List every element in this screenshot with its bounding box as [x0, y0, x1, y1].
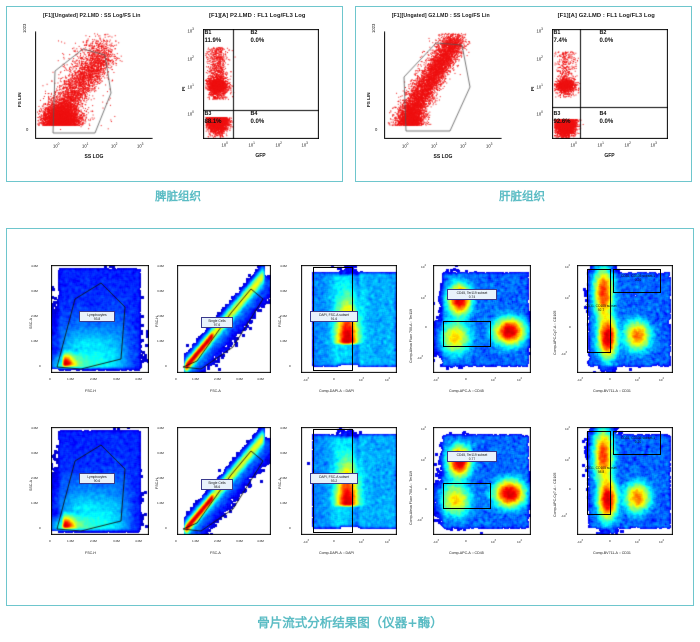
x-tick: 103 — [359, 539, 364, 544]
quadrant-label-b4: B4 — [251, 111, 258, 117]
x-axis-label: Comp-DAPI-A :: DAPI — [319, 389, 354, 393]
top-captions-row: 脾脏组织 肝脏组织 — [0, 182, 700, 204]
y-tick-0: 100 — [188, 110, 194, 116]
plot-title: [F1][A] P2.LMD : FL1 Log/FL3 Log — [175, 13, 341, 19]
x-tick-1: 101 — [431, 142, 437, 148]
gate-label-single-cells: Single Cells 98.6 — [201, 479, 233, 490]
plot-title: [F1][Ungated] P2.LMD : SS Log/FS Lin — [9, 13, 175, 19]
y-tick: 3.0M — [31, 289, 38, 293]
y-tick: 1.0M — [280, 501, 287, 505]
x-axis-label: FSC-A — [210, 389, 221, 393]
x-tick: 104 — [659, 539, 664, 544]
x-tick: 103 — [491, 377, 496, 382]
gate-label-dapi-subset: DAPI, FSC-A subset 93.2 — [310, 473, 358, 484]
x-tick-0: 100 — [53, 142, 59, 148]
x-tick: 2.0M — [90, 377, 97, 381]
x-tick: 0 — [333, 377, 335, 381]
panel-bone-chip-analysis: Lymphocytes 93.8 4.0M 3.0M 2.0M 1.0M 0 0… — [6, 228, 694, 606]
x-tick: 103 — [359, 377, 364, 382]
y-tick: 0 — [165, 526, 167, 530]
y-axis-label: FSC-H — [155, 316, 159, 327]
y-tick: 104 — [565, 264, 570, 269]
plot-r2-cd45-ter119: CD45, Ter119 subset 0.77 104 103 0 -103 … — [403, 421, 543, 581]
x-tick: 104 — [385, 377, 390, 382]
caption-bone-chip: 骨片流式分析结果图（仪器+酶） — [0, 612, 700, 631]
y-axis-label: PI — [530, 87, 535, 91]
x-axis-label: GFP — [552, 153, 668, 159]
y-axis-label: Comp-APC-Cy7-A :: CD105 — [553, 311, 557, 355]
y-tick: 3.0M — [280, 451, 287, 455]
y-tick: 0 — [165, 364, 167, 368]
x-tick: 1.0M — [67, 377, 74, 381]
x-tick: 0 — [49, 377, 51, 381]
y-tick-bottom: 0 — [26, 127, 28, 132]
quadrant-pct-b4: 0.0% — [600, 119, 614, 125]
x-tick: 3.0M — [113, 377, 120, 381]
x-tick: 1.0M — [67, 539, 74, 543]
x-tick: -103 — [303, 377, 309, 382]
y-tick: 3.0M — [157, 451, 164, 455]
x-tick-3: 103 — [302, 141, 308, 147]
scatter-canvas — [35, 31, 153, 139]
x-axis-label: Comp-DAPI-A :: DAPI — [319, 551, 354, 555]
x-tick: 3.0M — [113, 539, 120, 543]
y-tick: 104 — [421, 426, 426, 431]
quadrant-label-b2: B2 — [600, 30, 607, 36]
x-tick: 1.0M — [192, 539, 199, 543]
y-tick: -103 — [561, 351, 567, 356]
quadrant-pct-b1: 11.9% — [205, 38, 222, 44]
plot-title: [F1][Ungated] G2.LMD : SS Log/FS Lin — [358, 13, 524, 19]
y-tick-2: 102 — [537, 55, 543, 61]
bottom-row-2: Lymphocytes 90.6 4.0M 3.0M 2.0M 1.0M 0 0… — [7, 421, 693, 581]
y-tick: 1.0M — [157, 501, 164, 505]
y-tick: 0 — [289, 526, 291, 530]
y-tick-bottom: 0 — [375, 127, 377, 132]
x-tick: 103 — [491, 539, 496, 544]
gate-label-cd31-cd105-1: CD31, CD105 subset-1 0.20 — [615, 435, 661, 444]
plot-r1-dapi-fsca: DAPI, FSC-A subset 91.6 4.0M 3.0M 2.0M 1… — [277, 259, 403, 419]
plot-r1-ssc-fsc: Lymphocytes 93.8 4.0M 3.0M 2.0M 1.0M 0 0… — [27, 259, 155, 419]
density-canvas — [433, 427, 531, 535]
y-tick: 0 — [425, 325, 427, 329]
x-axis-label: Comp-BV711-A :: CD31 — [593, 389, 631, 393]
y-tick: 0 — [289, 364, 291, 368]
caption-spleen: 脾脏组织 — [6, 188, 350, 204]
y-tick: 0 — [425, 487, 427, 491]
y-tick: 3.0M — [31, 451, 38, 455]
quadrant-pct-b4: 0.0% — [251, 119, 265, 125]
y-tick: 4.0M — [280, 264, 287, 268]
x-tick: 0 — [175, 539, 177, 543]
gate-label-cd31-cd105-1: CD31, CD105 subset-1 0.20 — [615, 273, 661, 282]
y-axis-label: SSC-A — [29, 480, 33, 491]
x-tick: 4.0M — [257, 539, 264, 543]
gate-label-cd31-cd105: CD31, CD105 subset 98.8 — [577, 465, 625, 474]
y-tick-3: 103 — [188, 27, 194, 33]
y-tick: 0 — [39, 526, 41, 530]
x-tick: 0 — [465, 539, 467, 543]
x-tick-2: 102 — [111, 142, 117, 148]
y-tick-top: 1023 — [22, 24, 27, 33]
y-tick-top: 1023 — [371, 24, 376, 33]
x-tick-1: 101 — [598, 141, 604, 147]
x-tick-1: 101 — [249, 141, 255, 147]
x-tick: -103 — [577, 539, 583, 544]
quadrant-label-b4: B4 — [600, 111, 607, 117]
y-axis-label: Comp-Alexa Fluor 700-A :: Ter119 — [409, 309, 413, 363]
x-axis-label: FSC-A — [210, 551, 221, 555]
x-tick: 4.0M — [135, 377, 142, 381]
plot-spleen-fl1-fl3: [F1][A] P2.LMD : FL1 Log/FL3 Log PI 103 … — [175, 11, 341, 177]
y-tick: -103 — [417, 355, 423, 360]
y-tick: 103 — [421, 295, 426, 300]
x-axis-label: Comp-BV711-A :: CD31 — [593, 551, 631, 555]
plot-r1-fsch-fsca: Single Cells 97.6 4.0M 3.0M 2.0M 1.0M 0 … — [155, 259, 277, 419]
x-tick-3: 103 — [486, 142, 492, 148]
gate-label-lymphocytes: Lymphocytes 90.6 — [79, 473, 115, 484]
y-axis-label: FS LIN — [17, 92, 22, 107]
x-tick-0: 100 — [222, 141, 228, 147]
y-tick: 104 — [565, 426, 570, 431]
x-axis-label: FSC-H — [85, 551, 96, 555]
y-tick-1: 101 — [537, 83, 543, 89]
y-tick: 3.0M — [157, 289, 164, 293]
x-axis-label: GFP — [203, 153, 319, 159]
y-tick: 4.0M — [31, 264, 38, 268]
x-axis-label: Comp-APC-A :: CD45 — [449, 389, 484, 393]
y-tick: 4.0M — [31, 426, 38, 430]
y-tick-2: 102 — [188, 55, 194, 61]
gate-label-dapi-subset: DAPI, FSC-A subset 91.6 — [310, 311, 358, 322]
y-tick: 0 — [39, 364, 41, 368]
quadrant-pct-b2: 0.0% — [251, 38, 265, 44]
x-axis-label: Comp-APC-A :: CD45 — [449, 551, 484, 555]
y-axis-label: PI — [181, 87, 186, 91]
plot-liver-ss-fs: [F1][Ungated] G2.LMD : SS Log/FS Lin FS … — [358, 11, 524, 177]
plot-r1-cd31-cd105: CD31, CD105 subset-1 0.20 CD31, CD105 su… — [543, 259, 693, 419]
y-axis-label: FSC-A — [278, 316, 282, 327]
x-axis-label: SS LOG — [35, 154, 153, 160]
y-axis-label: Comp-APC-Cy7-A :: CD105 — [553, 473, 557, 517]
bottom-row-1: Lymphocytes 93.8 4.0M 3.0M 2.0M 1.0M 0 0… — [7, 259, 693, 419]
x-tick: 4.0M — [135, 539, 142, 543]
y-tick-0: 100 — [537, 110, 543, 116]
x-tick-2: 102 — [460, 142, 466, 148]
scatter-canvas — [384, 31, 502, 139]
x-tick: 3.0M — [236, 377, 243, 381]
y-tick: 103 — [565, 295, 570, 300]
y-tick: 4.0M — [157, 264, 164, 268]
x-tick-0: 100 — [571, 141, 577, 147]
x-tick: 2.0M — [214, 539, 221, 543]
gate-label-lymphocytes: Lymphocytes 93.8 — [79, 311, 115, 322]
y-tick: 104 — [421, 264, 426, 269]
gate-rect-cd45 — [443, 321, 491, 347]
x-tick: 104 — [659, 377, 664, 382]
y-tick: 4.0M — [157, 426, 164, 430]
x-tick: -103 — [433, 539, 439, 544]
x-tick-3: 103 — [137, 142, 143, 148]
gate-rect-cd45 — [443, 483, 491, 509]
x-tick: 1.0M — [192, 377, 199, 381]
x-tick: 4.0M — [257, 377, 264, 381]
x-tick: -103 — [433, 377, 439, 382]
quadrant-pct-b3: 88.1% — [205, 119, 222, 125]
quadrant-label-b2: B2 — [251, 30, 258, 36]
plot-r2-ssc-fsc: Lymphocytes 90.6 4.0M 3.0M 2.0M 1.0M 0 0… — [27, 421, 155, 581]
quadrant-pct-b1: 7.4% — [554, 38, 568, 44]
x-tick-1: 101 — [82, 142, 88, 148]
y-tick: 4.0M — [280, 426, 287, 430]
quadrant-label-b3: B3 — [554, 111, 561, 117]
y-tick: 3.0M — [280, 289, 287, 293]
plot-r2-dapi-fsca: DAPI, FSC-A subset 93.2 4.0M 3.0M 2.0M 1… — [277, 421, 403, 581]
gate-label-cd45-ter119: CD45, Ter119 subset 0.74 — [447, 289, 497, 300]
plot-liver-fl1-fl3: [F1][A] G2.LMD : FL1 Log/FL3 Log PI 103 … — [524, 11, 690, 177]
plot-r2-cd31-cd105: CD31, CD105 subset-1 0.20 CD31, CD105 su… — [543, 421, 693, 581]
quadrant-label-b1: B1 — [554, 30, 561, 36]
quadrant-pct-b2: 0.0% — [600, 38, 614, 44]
y-axis-label: FSC-A — [278, 478, 282, 489]
y-tick: 1.0M — [31, 339, 38, 343]
x-tick: 104 — [517, 539, 522, 544]
y-tick: 1.0M — [280, 339, 287, 343]
x-tick: 3.0M — [236, 539, 243, 543]
caption-liver: 肝脏组织 — [350, 188, 694, 204]
x-tick: 103 — [635, 377, 640, 382]
plot-spleen-ss-fs: [F1][Ungated] P2.LMD : SS Log/FS Lin FS … — [9, 11, 175, 177]
x-tick: 2.0M — [90, 539, 97, 543]
y-tick: 0 — [569, 487, 571, 491]
y-tick: 103 — [565, 457, 570, 462]
y-axis-label: Comp-Alexa Fluor 700-A :: Ter119 — [409, 471, 413, 525]
gate-label-cd45-ter119: CD45, Ter119 subset 0.77 — [447, 451, 497, 462]
y-axis-label: FS LIN — [366, 92, 371, 107]
quadrant-label-b3: B3 — [205, 111, 212, 117]
x-tick: 103 — [635, 539, 640, 544]
y-axis-label: SSC-A — [29, 318, 33, 329]
top-panels-row: [F1][Ungated] P2.LMD : SS Log/FS Lin FS … — [0, 0, 700, 182]
x-tick-3: 103 — [651, 141, 657, 147]
y-tick: -103 — [561, 513, 567, 518]
y-tick: 1.0M — [157, 339, 164, 343]
y-tick: 0 — [569, 325, 571, 329]
x-tick: 0 — [465, 377, 467, 381]
y-axis-label: FSC-H — [155, 478, 159, 489]
y-tick: -103 — [417, 517, 423, 522]
x-tick-2: 102 — [276, 141, 282, 147]
x-tick: -103 — [303, 539, 309, 544]
gate-label-cd31-cd105: CD31, CD105 subset 92.7 — [577, 303, 625, 312]
x-tick: 0 — [49, 539, 51, 543]
y-tick: 1.0M — [31, 501, 38, 505]
x-tick: 104 — [517, 377, 522, 382]
panel-spleen: [F1][Ungated] P2.LMD : SS Log/FS Lin FS … — [6, 6, 343, 182]
x-tick-2: 102 — [625, 141, 631, 147]
x-axis-label: SS LOG — [384, 154, 502, 160]
x-tick: 0 — [333, 539, 335, 543]
x-tick: 0 — [609, 377, 611, 381]
plot-r2-fsch-fsca: Single Cells 98.6 4.0M 3.0M 2.0M 1.0M 0 … — [155, 421, 277, 581]
y-tick-3: 103 — [537, 27, 543, 33]
x-tick: -103 — [577, 377, 583, 382]
x-tick: 104 — [385, 539, 390, 544]
x-tick: 2.0M — [214, 377, 221, 381]
x-axis-label: FSC-H — [85, 389, 96, 393]
x-tick-0: 100 — [402, 142, 408, 148]
plot-title: [F1][A] G2.LMD : FL1 Log/FL3 Log — [524, 13, 690, 19]
quadrant-label-b1: B1 — [205, 30, 212, 36]
plot-r1-cd45-ter119: CD45, Ter119 subset 0.74 104 103 0 -103 … — [403, 259, 543, 419]
x-tick: 0 — [175, 377, 177, 381]
y-tick-1: 101 — [188, 83, 194, 89]
y-tick: 103 — [421, 457, 426, 462]
quadrant-pct-b3: 92.6% — [554, 119, 571, 125]
panel-liver: [F1][Ungated] G2.LMD : SS Log/FS Lin FS … — [355, 6, 692, 182]
density-canvas — [433, 265, 531, 373]
gate-label-single-cells: Single Cells 97.6 — [201, 317, 233, 328]
x-tick: 0 — [609, 539, 611, 543]
